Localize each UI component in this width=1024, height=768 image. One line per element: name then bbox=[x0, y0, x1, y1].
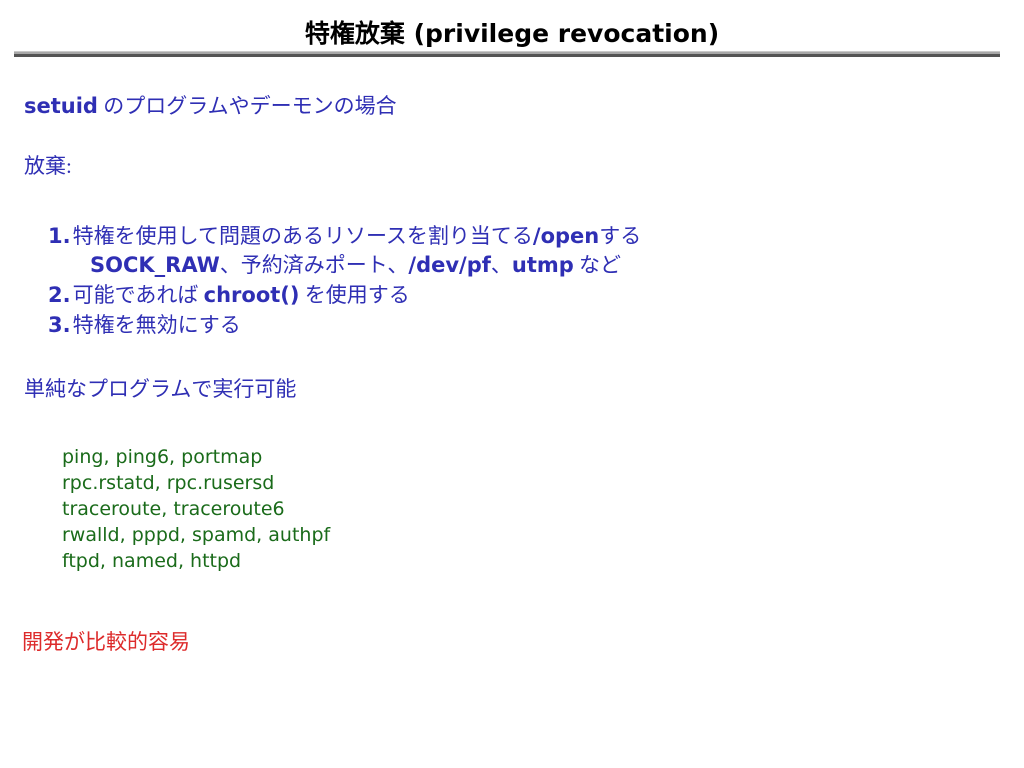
daemon-list-item: rwalld, pppd, spamd, authpf bbox=[62, 522, 330, 548]
list-item-1-code: /open bbox=[533, 224, 599, 248]
intro-term-setuid: setuid bbox=[24, 94, 98, 118]
list-marker-1: 1. bbox=[48, 224, 71, 248]
list-item-1-text-b: する bbox=[599, 224, 641, 248]
sub-text-1: 、予約済みポート、 bbox=[220, 253, 409, 277]
list-item: 1.特権を使用して問題のあるリソースを割り当てる/openする bbox=[48, 222, 641, 250]
conclusion-text: 開発が比較的容易 bbox=[22, 626, 190, 656]
list-item: 3.特権を無効にする bbox=[48, 310, 641, 340]
daemon-list-item: rpc.rstatd, rpc.rusersd bbox=[62, 470, 330, 496]
daemon-list-item: ping, ping6, portmap bbox=[62, 444, 330, 470]
slide-title: 特権放棄 (privilege revocation) bbox=[0, 14, 1024, 50]
slide-title-english: (privilege revocation) bbox=[414, 19, 720, 48]
list-item: 2.可能であれば chroot() を使用する bbox=[48, 280, 641, 310]
list-item-1-text-a: 特権を使用して問題のあるリソースを割り当てる bbox=[73, 224, 533, 248]
list-item-2-text-a: 可能であれば bbox=[73, 283, 204, 307]
numbered-list: 1.特権を使用して問題のあるリソースを割り当てる/openする SOCK_RAW… bbox=[48, 222, 641, 340]
daemon-list-item: traceroute, traceroute6 bbox=[62, 496, 330, 522]
intro-line: setuid のプログラムやデーモンの場合 bbox=[24, 96, 397, 117]
section-label-revoke: 放棄: bbox=[24, 156, 72, 177]
sub-text-3: など bbox=[574, 253, 621, 277]
title-separator-rule bbox=[14, 51, 1000, 57]
simple-programs-label: 単純なプログラムで実行可能 bbox=[24, 379, 296, 400]
daemon-list: ping, ping6, portmap rpc.rstatd, rpc.rus… bbox=[62, 444, 330, 574]
sub-code-devpf: /dev/pf bbox=[408, 253, 490, 277]
list-item-3-text-a: 特権を無効にする bbox=[73, 313, 241, 337]
intro-text: のプログラムやデーモンの場合 bbox=[98, 94, 397, 118]
slide-title-japanese: 特権放棄 bbox=[305, 21, 405, 48]
sub-code-utmp: utmp bbox=[512, 253, 574, 277]
list-item-1-subline: SOCK_RAW、予約済みポート、/dev/pf、utmp など bbox=[48, 250, 641, 280]
list-marker-3: 3. bbox=[48, 313, 71, 337]
list-item-2-code-chroot: chroot() bbox=[204, 283, 300, 307]
sub-code-sock-raw: SOCK_RAW bbox=[90, 253, 220, 277]
list-item-2-text-b: を使用する bbox=[299, 283, 409, 307]
list-marker-2: 2. bbox=[48, 283, 71, 307]
sub-text-2: 、 bbox=[491, 253, 512, 277]
daemon-list-item: ftpd, named, httpd bbox=[62, 548, 330, 574]
